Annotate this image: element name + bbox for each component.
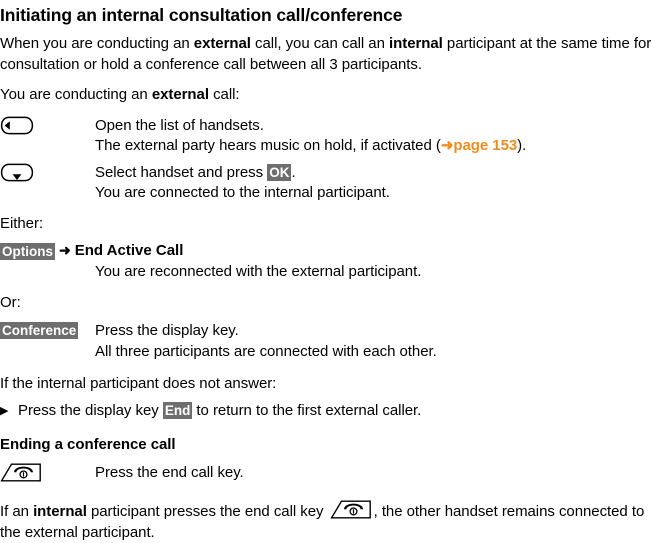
either-label: Either: (0, 214, 652, 235)
section-heading-ending-conference: Ending a conference call (0, 435, 652, 455)
step-line-2-text-b: ). (517, 137, 526, 154)
step-key-cell (0, 463, 95, 487)
closing-note-bold-internal: internal (33, 503, 87, 520)
step-row-open-handset-list: Open the list of handsets. The external … (0, 116, 652, 157)
handset-left-nav-key-icon (0, 116, 34, 135)
display-key-end[interactable]: End (163, 402, 193, 419)
no-answer-text-b: to return to the first external caller. (192, 402, 421, 419)
option-key-cell: Conference (0, 321, 95, 339)
option-line-1: Press the display key. (95, 321, 652, 342)
step-key-cell (0, 116, 95, 140)
step-line-2: The external party hears music on hold, … (95, 136, 652, 157)
option-line-2: All three participants are connected wit… (95, 342, 652, 363)
step-line-1: Select handset and press OK. (95, 163, 652, 184)
step-row-end-call: Press the end call key. (0, 463, 652, 487)
step-body-cell: Open the list of handsets. The external … (95, 116, 652, 157)
intro-text-a: When you are conducting an (0, 35, 194, 52)
display-key-options[interactable]: Options (0, 243, 55, 260)
display-key-ok[interactable]: OK (267, 164, 291, 181)
end-call-step-text: Press the end call key. (95, 463, 652, 484)
closing-note-text-b: participant presses the end call key (87, 503, 328, 520)
intro-bold-internal: internal (389, 35, 443, 52)
arrow-right-icon: ➜ (55, 242, 75, 258)
or-label: Or: (0, 293, 652, 314)
no-answer-bullet-text: Press the display key End to return to t… (18, 401, 421, 422)
lead-in-paragraph: You are conducting an external call: (0, 85, 652, 106)
step-body-cell: Select handset and press OK. You are con… (95, 163, 652, 204)
option-body-cell: Press the display key. All three partici… (95, 321, 652, 362)
no-answer-bullet-row: ▶ Press the display key End to return to… (0, 401, 652, 422)
option-row-end-active-call: Options➜End Active Call (0, 242, 652, 260)
option-result-text: You are reconnected with the external pa… (0, 262, 652, 283)
lead-in-text-b: call: (209, 86, 240, 103)
end-call-key-icon (330, 500, 372, 519)
cross-reference-link[interactable]: ➜page 153 (441, 137, 517, 154)
cross-reference-label: page 153 (453, 137, 517, 154)
step-line-2-text-a: The external party hears music on hold, … (95, 137, 441, 154)
step-line-1-text-b: . (291, 164, 295, 181)
handset-down-nav-key-icon (0, 163, 34, 182)
intro-paragraph: When you are conducting an external call… (0, 34, 652, 75)
display-key-conference[interactable]: Conference (0, 322, 78, 339)
lead-in-bold-external: external (152, 86, 209, 103)
step-body-cell: Press the end call key. (95, 463, 652, 484)
intro-bold-external: external (194, 35, 251, 52)
step-line-2: You are connected to the internal partic… (95, 183, 652, 204)
intro-text-b: call, you can call an (251, 35, 389, 52)
end-call-key-icon (0, 463, 42, 482)
option-row-conference: Conference Press the display key. All th… (0, 321, 652, 362)
step-line-1: Open the list of handsets. (95, 116, 652, 137)
closing-note-text-a: If an (0, 503, 33, 520)
lead-in-text-a: You are conducting an (0, 86, 152, 103)
option-key-cell: Options➜End Active Call (0, 242, 183, 260)
step-row-select-handset: Select handset and press OK. You are con… (0, 163, 652, 204)
step-key-cell (0, 163, 95, 187)
triangle-bullet-icon: ▶ (0, 401, 18, 422)
no-answer-text-a: Press the display key (18, 402, 163, 419)
no-answer-intro: If the internal participant does not ans… (0, 374, 652, 395)
page-title: Initiating an internal consultation call… (0, 0, 652, 26)
document-page: Initiating an internal consultation call… (0, 0, 652, 514)
arrow-right-icon: ➜ (441, 137, 454, 154)
step-line-1-text-a: Select handset and press (95, 164, 267, 181)
closing-note-paragraph: If an internal participant presses the e… (0, 497, 652, 543)
menu-item-end-active-call[interactable]: End Active Call (75, 242, 184, 259)
